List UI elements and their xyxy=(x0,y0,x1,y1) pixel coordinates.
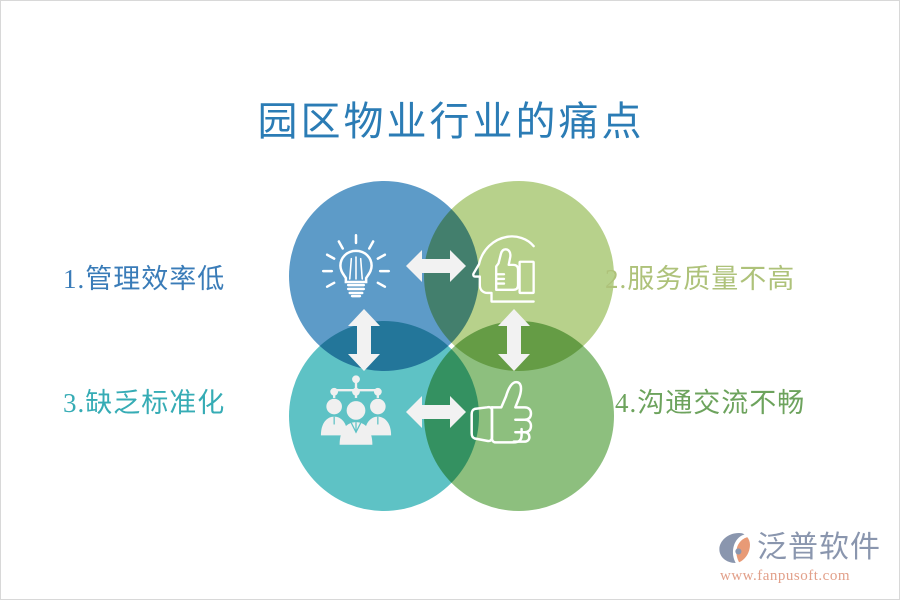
venn-diagram xyxy=(289,181,614,511)
company-logo: 泛普软件 www.fanpusoft.com xyxy=(718,531,881,585)
logo-company-name: 泛普软件 xyxy=(757,533,881,563)
slide-canvas: 园区物业行业的痛点 xyxy=(0,0,900,600)
page-title: 园区物业行业的痛点 xyxy=(1,89,900,147)
label-management-efficiency: 1.管理效率低 xyxy=(63,257,225,296)
label-service-quality: 2.服务质量不高 xyxy=(605,257,795,296)
logo-website-url: www.fanpusoft.com xyxy=(720,568,850,585)
logo-row: 泛普软件 xyxy=(718,531,881,565)
label-standardization: 3.缺乏标准化 xyxy=(63,381,225,420)
fanpu-logo-mark-icon xyxy=(718,531,752,565)
label-communication: 4.沟通交流不畅 xyxy=(615,381,805,420)
venn-circle-communication xyxy=(424,321,614,511)
